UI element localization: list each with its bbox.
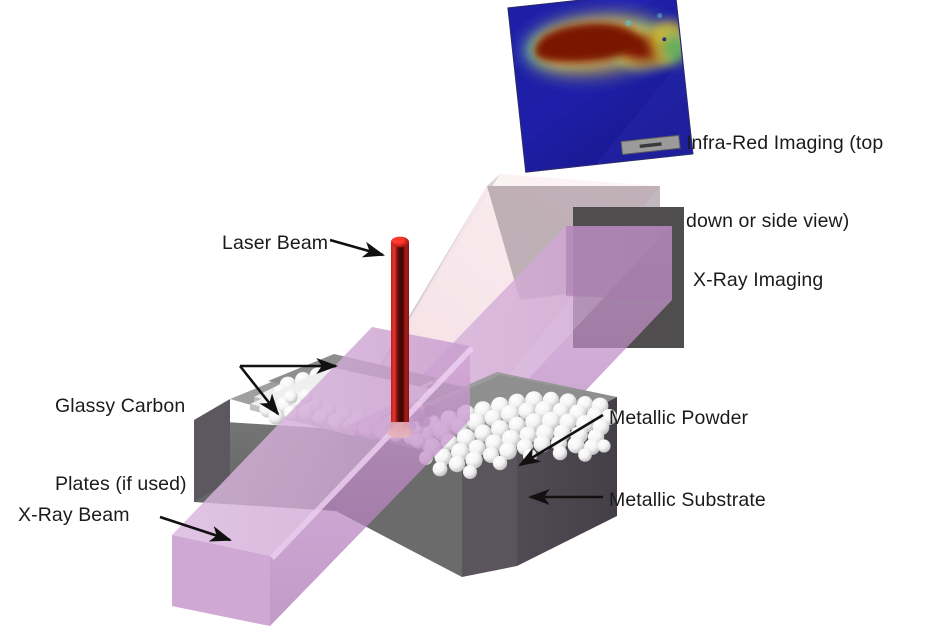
figure-canvas: Infra-Red Imaging (top down or side view… (0, 0, 939, 644)
label-glassy-carbon-line2: Plates (if used) (55, 471, 255, 497)
label-metallic-powder: Metallic Powder (609, 405, 748, 431)
label-laser-beam: Laser Beam (222, 230, 328, 256)
label-infrared-imaging-line2: down or side view) (686, 208, 936, 234)
label-infrared-imaging: Infra-Red Imaging (top down or side view… (686, 78, 936, 286)
label-infrared-imaging-line1: Infra-Red Imaging (top (686, 130, 936, 156)
infrared-thermal-image (508, 0, 703, 172)
arrow-laser-beam (330, 240, 383, 255)
label-metallic-substrate: Metallic Substrate (609, 487, 766, 513)
label-xray-imaging: X-Ray Imaging (693, 267, 823, 293)
label-xray-beam: X-Ray Beam (18, 502, 130, 528)
label-glassy-carbon-line1: Glassy Carbon (55, 393, 255, 419)
